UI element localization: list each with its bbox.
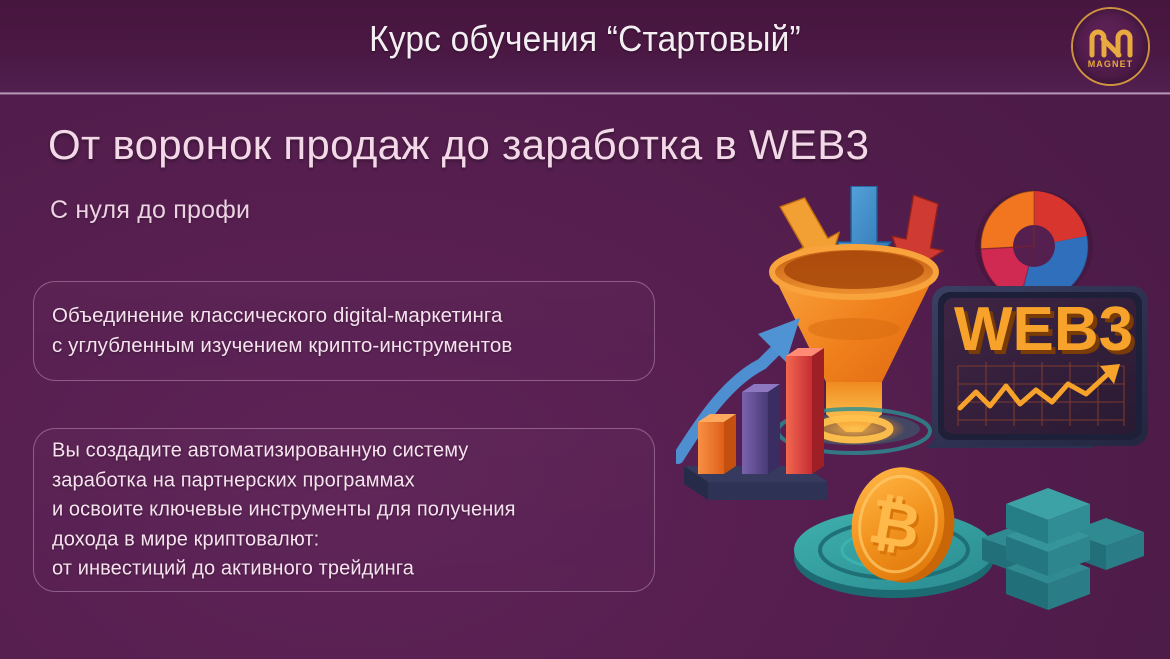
web3-illustration-svg: WEB3 WEB3 ₿ ₿	[676, 186, 1170, 616]
page-title: Курс обучения “Стартовый”	[41, 18, 1129, 60]
screen-label: WEB3	[954, 295, 1133, 364]
hero-subheadline: С нуля до профи	[50, 196, 250, 225]
monitor-icon: WEB3 WEB3	[926, 286, 1148, 448]
magnet-logo[interactable]: MAGNET	[1073, 9, 1148, 84]
header-bar: Курс обучения “Стартовый”	[0, 0, 1170, 93]
bar-chart-icon	[678, 318, 828, 500]
magnet-logo-text: MAGNET	[1088, 59, 1134, 69]
card-digital-marketing-text: Объединение классического digital-маркет…	[52, 301, 512, 361]
card-digital-marketing: Объединение классического digital-маркет…	[33, 281, 655, 381]
slide-root: Курс обучения “Стартовый” MAGNET От воро…	[0, 0, 1170, 659]
stacked-blocks-icon	[982, 488, 1144, 610]
hero-headline: От воронок продаж до заработка в WEB3	[48, 121, 869, 169]
card-automated-income: Вы создадите автоматизированную систему …	[33, 428, 655, 592]
card-automated-income-text: Вы создадите автоматизированную систему …	[52, 436, 516, 584]
header-divider	[0, 92, 1170, 95]
donut-chart-icon	[975, 190, 1093, 302]
magnet-mark-icon	[1088, 28, 1134, 58]
web3-illustration: WEB3 WEB3 ₿ ₿	[676, 186, 1170, 616]
